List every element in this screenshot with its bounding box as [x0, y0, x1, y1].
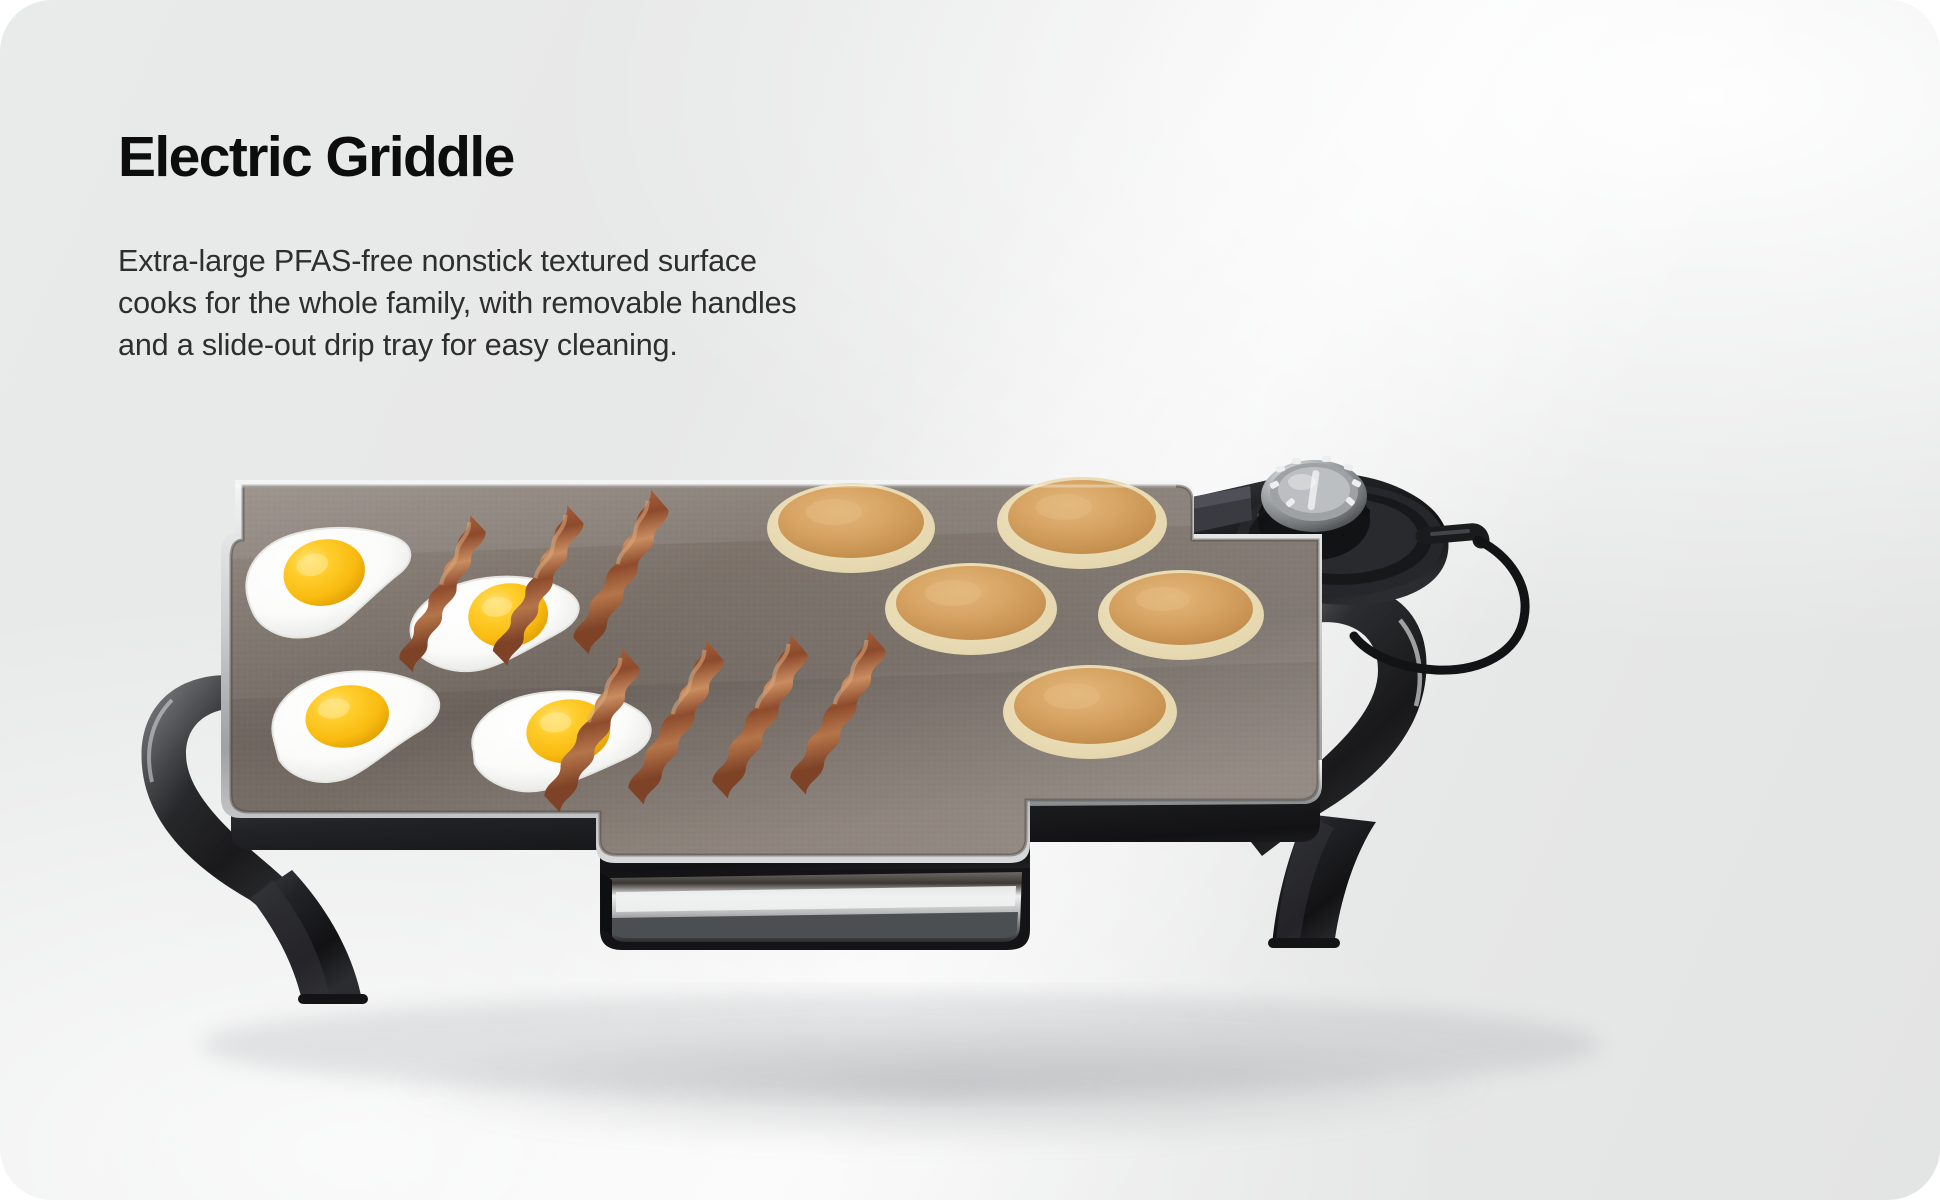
- pancake-3: [885, 563, 1057, 655]
- drip-tray[interactable]: [600, 868, 1030, 950]
- product-description: Extra-large PFAS-free nonstick textured …: [118, 240, 798, 366]
- product-card: Electric Griddle Extra-large PFAS-free n…: [0, 0, 1940, 1200]
- pancake-4: [1098, 570, 1264, 660]
- copy-block: Electric Griddle Extra-large PFAS-free n…: [118, 128, 878, 366]
- pancake-2: [997, 477, 1167, 569]
- product-shadow: [200, 993, 1600, 1097]
- page-title: Electric Griddle: [118, 128, 878, 188]
- pancake-1: [767, 483, 935, 573]
- pancake-5: [1003, 665, 1177, 759]
